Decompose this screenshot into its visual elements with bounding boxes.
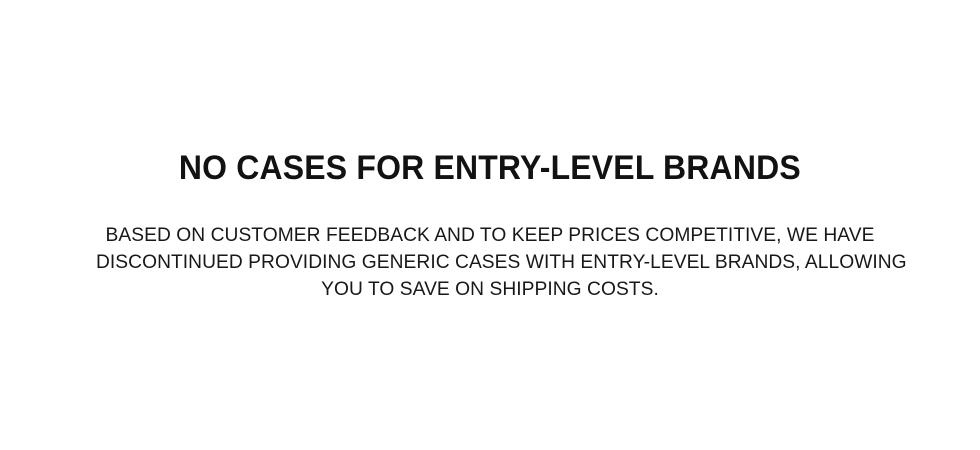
promo-banner: NO CASES FOR ENTRY-LEVEL BRANDS BASED ON… [0, 0, 980, 450]
promo-body-line-2: DISCONTINUED PROVIDING GENERIC CASES WIT… [96, 249, 884, 276]
page-title: NO CASES FOR ENTRY-LEVEL BRANDS [179, 148, 801, 188]
promo-body-line-3: YOU TO SAVE ON SHIPPING COSTS. [96, 276, 884, 303]
promo-body-line-1: BASED ON CUSTOMER FEEDBACK AND TO KEEP P… [96, 222, 884, 249]
promo-body-text: BASED ON CUSTOMER FEEDBACK AND TO KEEP P… [90, 222, 890, 303]
promo-content-block: NO CASES FOR ENTRY-LEVEL BRANDS BASED ON… [0, 148, 980, 303]
